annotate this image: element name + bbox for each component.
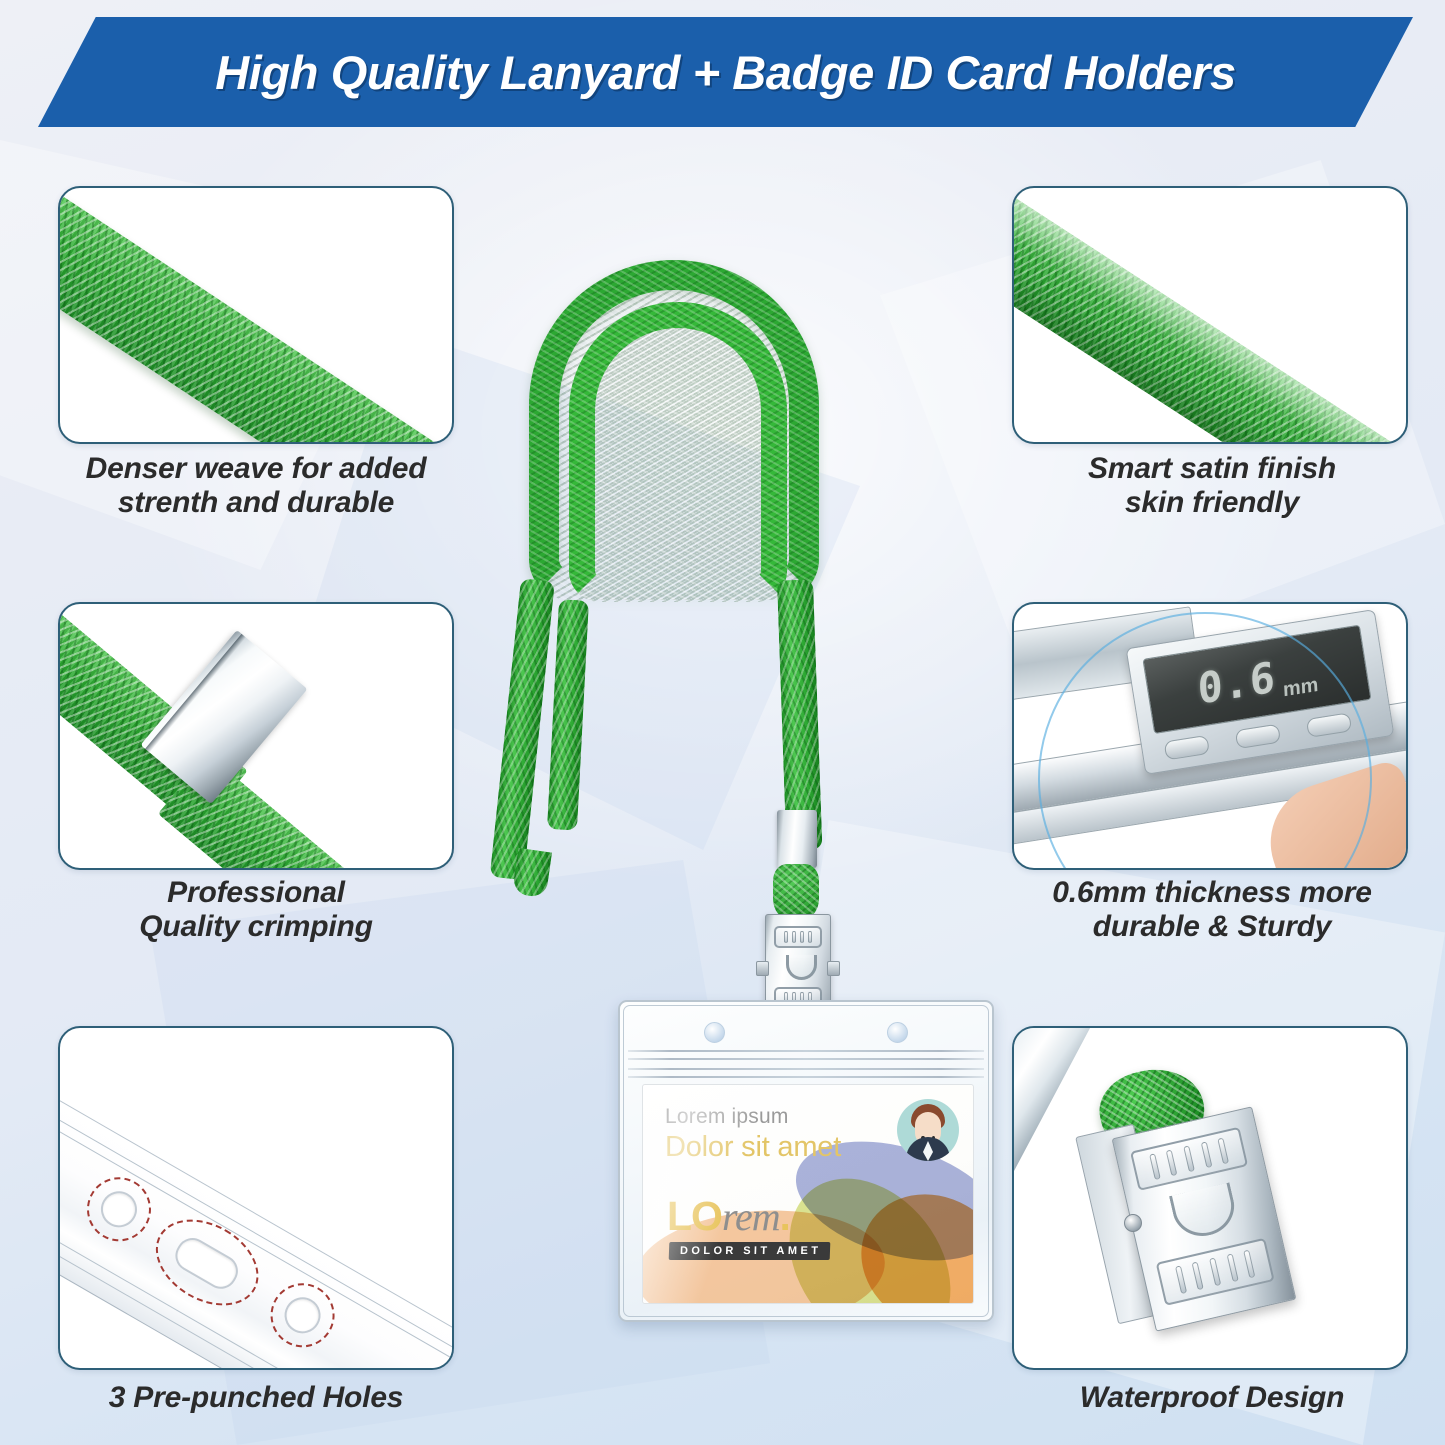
caption-denser-weave: Denser weave for added strenth and durab… xyxy=(46,452,466,519)
hole-marker-left xyxy=(75,1166,162,1253)
feature-panel-thickness: 0.6 mm xyxy=(1012,602,1408,870)
feature-panel-quality-crimping xyxy=(58,602,454,870)
clip-emboss-u-shape xyxy=(1169,1182,1240,1242)
caption-quality-crimping: Professional Quality crimping xyxy=(46,876,466,943)
clip-emboss-u-shape xyxy=(786,955,817,980)
clip-rivet xyxy=(1124,1214,1142,1232)
holder-zip-seam xyxy=(628,1076,984,1078)
holder-zip-seam xyxy=(628,1068,984,1070)
caption-line-2: Quality crimping xyxy=(46,910,466,944)
clip-emboss-top xyxy=(774,926,822,948)
caption-line-2: strenth and durable xyxy=(46,486,466,520)
lanyard-product-image xyxy=(455,250,995,950)
caption-thickness: 0.6mm thickness more durable & Sturdy xyxy=(1002,876,1422,943)
holder-hole-right xyxy=(887,1022,908,1043)
card-logo: LO rem . xyxy=(667,1193,791,1240)
hole-marker-center xyxy=(141,1202,274,1323)
lanyard-knot xyxy=(773,864,819,920)
caption-satin-finish: Smart satin finish skin friendly xyxy=(1002,452,1422,519)
hole-marker-right xyxy=(259,1272,346,1359)
caption-line-2: skin friendly xyxy=(1002,486,1422,520)
header-banner: High Quality Lanyard + Badge ID Card Hol… xyxy=(38,17,1413,127)
infographic-page: High Quality Lanyard + Badge ID Card Hol… xyxy=(0,0,1445,1445)
feature-panel-denser-weave xyxy=(58,186,454,444)
logo-dot: . xyxy=(780,1195,791,1240)
woven-strap-image xyxy=(58,186,454,444)
feature-panel-satin-finish xyxy=(1012,186,1408,444)
caption-line-1: 0.6mm thickness more xyxy=(1002,876,1422,910)
lanyard-loop-inner xyxy=(569,302,787,602)
feature-panel-waterproof xyxy=(1012,1026,1408,1370)
page-title: High Quality Lanyard + Badge ID Card Hol… xyxy=(38,17,1413,127)
card-line-1: Lorem ipsum xyxy=(665,1105,789,1129)
caption-line-1: Waterproof Design xyxy=(1002,1381,1422,1415)
holder-zip-seam xyxy=(628,1050,984,1052)
caption-waterproof: Waterproof Design xyxy=(1002,1381,1422,1415)
badge-card-holder: Lorem ipsum Dolor sit amet LO rem . DOLO… xyxy=(618,1000,994,1322)
lanyard-tail-end xyxy=(512,848,552,898)
caption-line-1: Smart satin finish xyxy=(1002,452,1422,486)
clip-hinge-ear-left xyxy=(756,961,769,976)
lanyard-tail-left-inner xyxy=(547,599,589,830)
badge-sleeve-edge xyxy=(58,1054,454,1370)
logo-primary-text: LO xyxy=(667,1193,722,1240)
caption-line-1: Denser weave for added xyxy=(46,452,466,486)
caption-pre-punched-holes: 3 Pre-punched Holes xyxy=(46,1381,466,1415)
loop-weave-texture xyxy=(569,302,787,602)
holder-zip-seam xyxy=(628,1058,984,1060)
logo-secondary-text: rem xyxy=(722,1193,780,1240)
id-card: Lorem ipsum Dolor sit amet LO rem . DOLO… xyxy=(642,1084,974,1304)
holder-hole-left xyxy=(704,1022,725,1043)
lanyard-tail-left xyxy=(490,578,555,880)
card-line-2: Dolor sit amet xyxy=(665,1131,841,1164)
satin-sheen-overlay xyxy=(1012,186,1408,444)
logo-tagline: DOLOR SIT AMET xyxy=(669,1242,831,1260)
clip-emboss-top xyxy=(1130,1127,1248,1191)
caption-line-1: Professional xyxy=(46,876,466,910)
caption-line-2: durable & Sturdy xyxy=(1002,910,1422,944)
lanyard-metal-crimp xyxy=(777,810,817,868)
clip-emboss-bottom xyxy=(1156,1238,1275,1306)
clip-hinge-ear-right xyxy=(827,961,840,976)
feature-panel-pre-punched-holes xyxy=(58,1026,454,1370)
avatar xyxy=(897,1099,959,1161)
caption-line-1: 3 Pre-punched Holes xyxy=(46,1381,466,1415)
